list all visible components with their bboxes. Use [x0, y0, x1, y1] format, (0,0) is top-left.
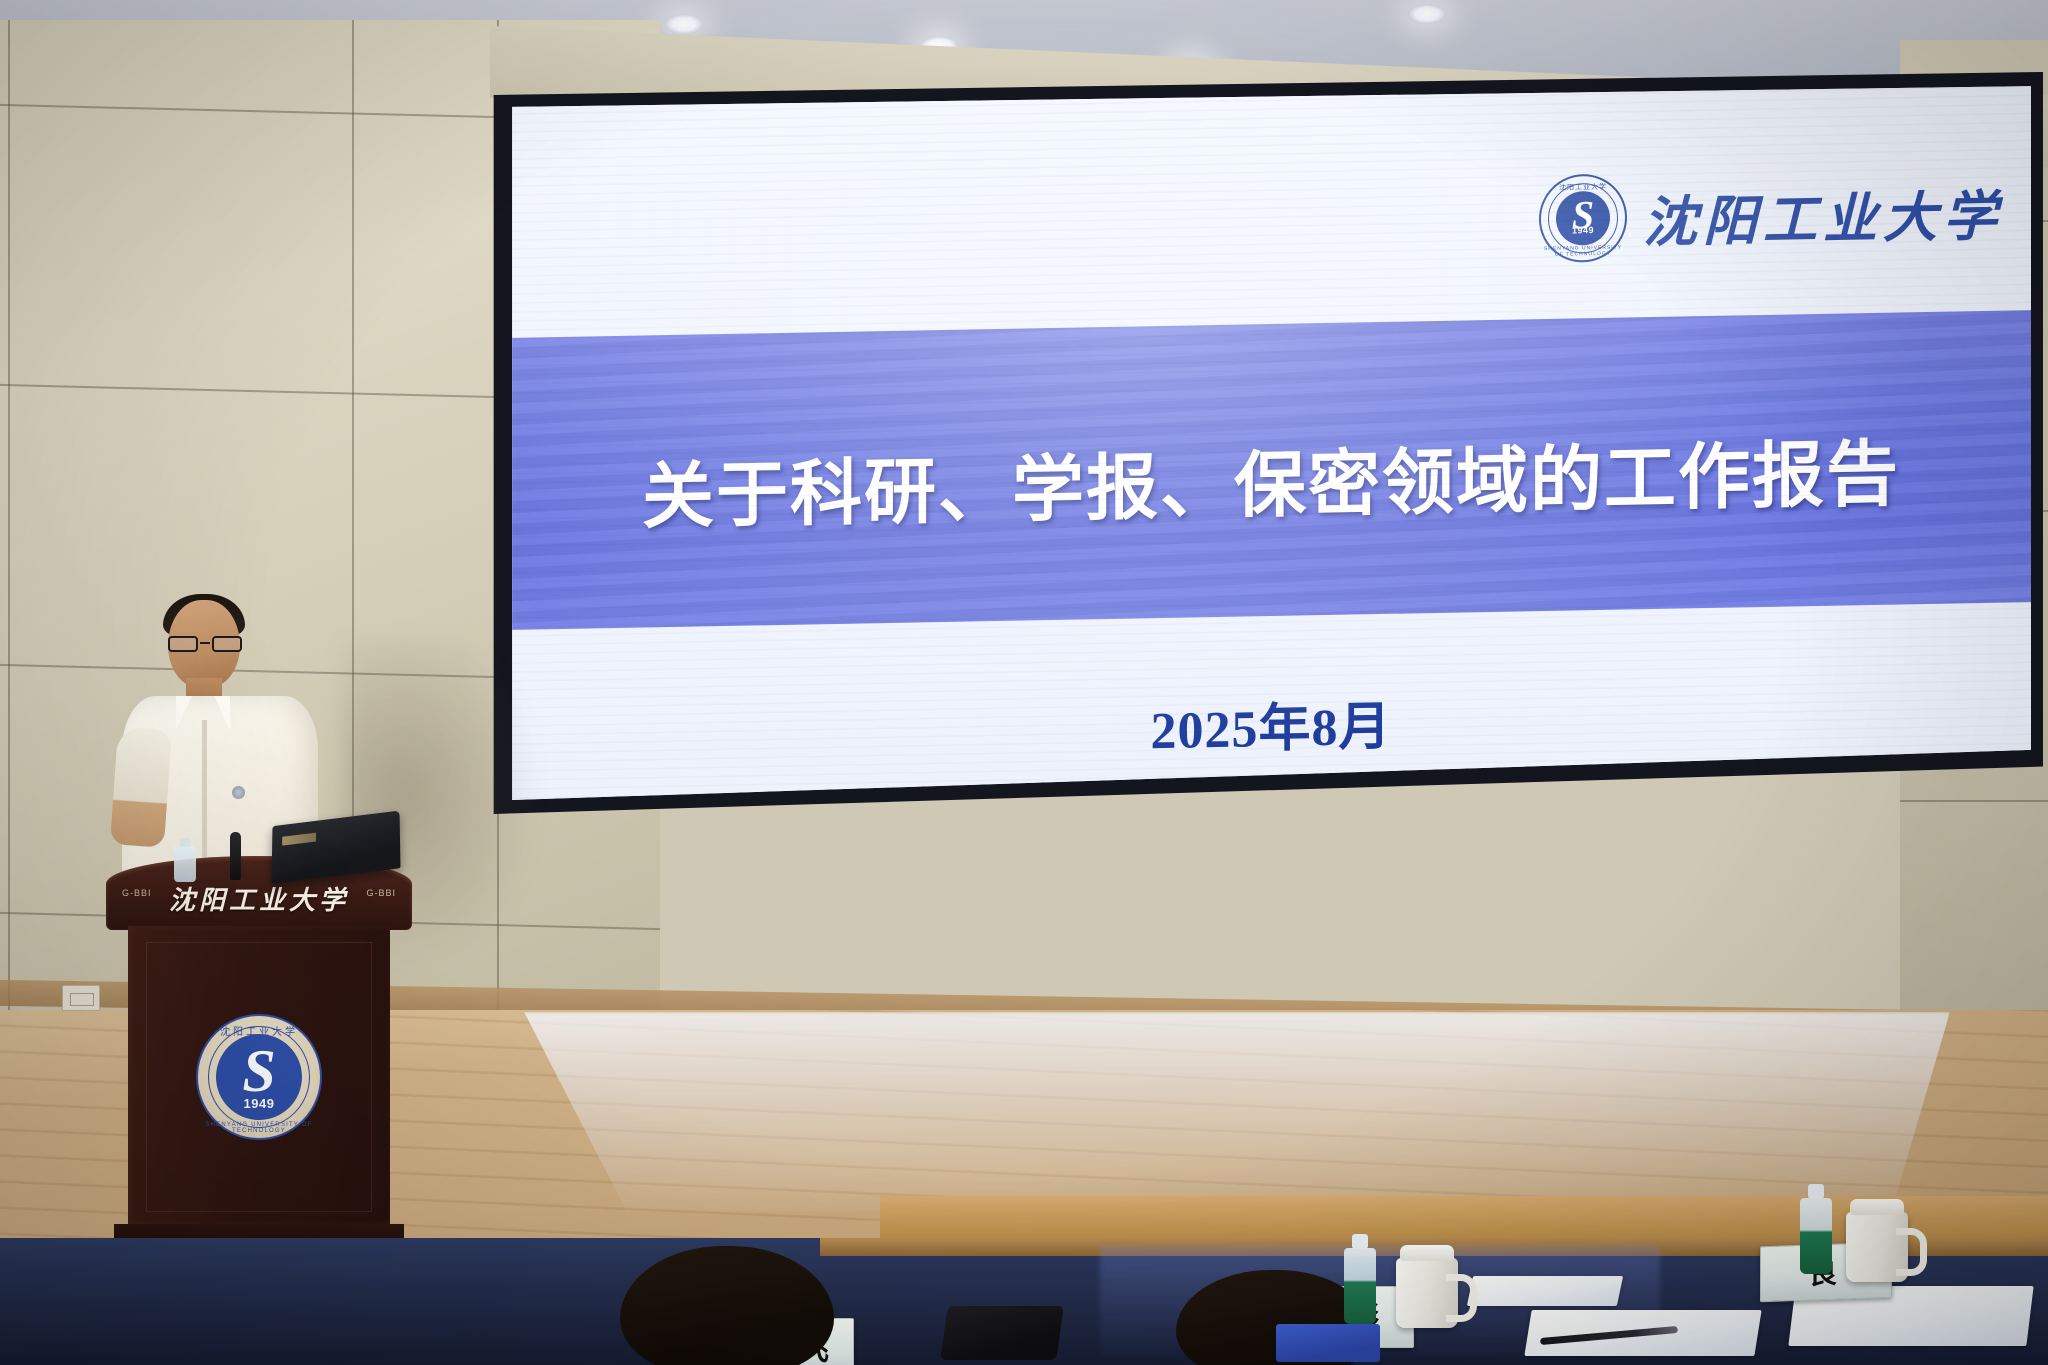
podium-emblem-core: S 1949 — [216, 1034, 302, 1120]
shirt-placket — [202, 720, 207, 870]
university-emblem-icon: 沈阳工业大学 S 1949 SHENYANG UNIVERSITY OF TEC… — [1539, 173, 1627, 263]
lectern-podium: G-BBI 沈阳工业大学 G-BBI 沈阳工业大学 S 1949 SHENYAN… — [128, 856, 390, 1276]
ceiling-downlight-icon — [1408, 4, 1446, 24]
podium-emblem-icon: 沈阳工业大学 S 1949 SHENYANG UNIVERSITY OF TEC… — [196, 1014, 322, 1140]
tissue-box-icon — [1276, 1324, 1380, 1362]
shirt-pocket-logo-icon — [232, 786, 245, 799]
podium-emblem-year: 1949 — [216, 1096, 302, 1111]
emblem-arc-en-text: SHENYANG UNIVERSITY OF TECHNOLOGY — [1541, 245, 1625, 259]
document-sheet — [1467, 1276, 1623, 1306]
screen-reflection-on-floor — [480, 1012, 1950, 1212]
microphone-icon — [230, 832, 241, 880]
podium-emblem-letter: S — [242, 1041, 275, 1101]
shirt-collar-right — [214, 696, 230, 730]
wall-outlet-icon — [62, 985, 100, 1011]
podium-body: 沈阳工业大学 S 1949 SHENYANG UNIVERSITY OF TEC… — [128, 926, 390, 1226]
podium-university-text: 沈阳工业大学 — [106, 880, 412, 917]
speaker-arm-left — [110, 726, 172, 847]
mobile-phone-icon — [940, 1306, 1064, 1360]
tea-mug-icon — [1846, 1212, 1908, 1282]
water-bottle-icon — [1800, 1198, 1832, 1274]
podium-brand-mark-right: G-BBI — [366, 888, 396, 898]
tea-mug-icon — [1396, 1258, 1458, 1328]
ceiling-downlight-icon — [665, 14, 703, 34]
conference-hall-scene: 沈阳工业大学 S 1949 SHENYANG UNIVERSITY OF TEC… — [0, 0, 2048, 1365]
emblem-year-text: 1949 — [1556, 225, 1610, 236]
eyeglasses-icon — [167, 636, 243, 653]
presentation-screen[interactable]: 沈阳工业大学 S 1949 SHENYANG UNIVERSITY OF TEC… — [503, 84, 2031, 800]
water-bottle-icon — [1344, 1248, 1376, 1324]
shirt-collar-left — [176, 696, 192, 730]
podium-emblem-arc-en: SHENYANG UNIVERSITY OF TECHNOLOGY — [198, 1122, 320, 1134]
emblem-core: S 1949 — [1556, 191, 1610, 246]
university-name-text: 沈阳工业大学 — [1643, 171, 2003, 257]
podium-water-bottle — [174, 846, 196, 882]
university-logo-lockup: 沈阳工业大学 S 1949 SHENYANG UNIVERSITY OF TEC… — [1539, 167, 2003, 264]
slide-canvas: 沈阳工业大学 S 1949 SHENYANG UNIVERSITY OF TEC… — [503, 84, 2031, 800]
